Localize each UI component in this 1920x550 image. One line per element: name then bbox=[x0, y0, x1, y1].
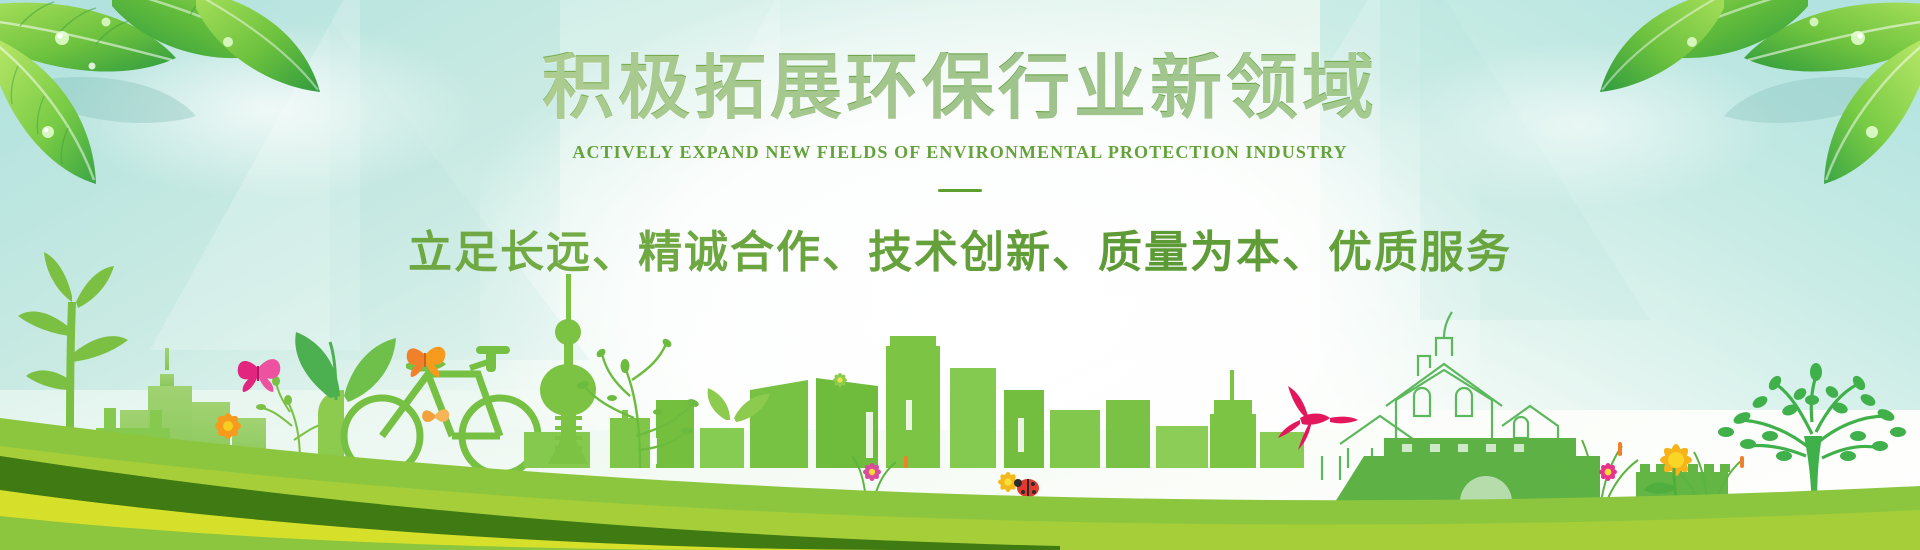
page-tagline: 立足长远、精诚合作、技术创新、质量为本、优质服务 bbox=[0, 216, 1920, 280]
scenery-svg bbox=[0, 250, 1920, 550]
eco-banner: 积极拓展环保行业新领域 ACTIVELY EXPAND NEW FIELDS O… bbox=[0, 0, 1920, 550]
house-icon bbox=[1322, 312, 1600, 514]
text-block: 积极拓展环保行业新领域 ACTIVELY EXPAND NEW FIELDS O… bbox=[0, 0, 1920, 280]
city-skyline-right bbox=[1210, 370, 1304, 468]
bicycle-saddle bbox=[406, 346, 510, 372]
scenery-layer bbox=[0, 250, 1920, 550]
ladybug-icon bbox=[1014, 479, 1039, 497]
page-title: 积极拓展环保行业新领域 bbox=[0, 52, 1920, 124]
divider-rule bbox=[938, 189, 982, 192]
cattail-icon bbox=[904, 456, 908, 468]
page-subtitle: ACTIVELY EXPAND NEW FIELDS OF ENVIRONMEN… bbox=[0, 142, 1920, 163]
flower-icon bbox=[1599, 463, 1617, 481]
